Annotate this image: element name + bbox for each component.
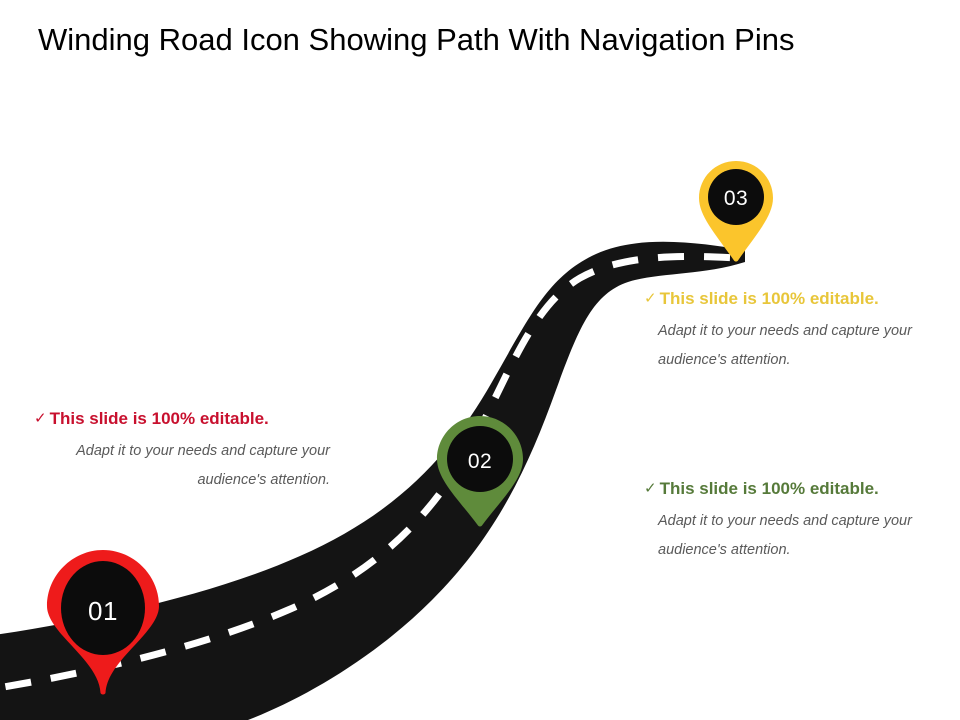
text-block-yellow-heading: ✓This slide is 100% editable. [644, 288, 944, 310]
text-block-green: ✓This slide is 100% editable. Adapt it t… [644, 478, 944, 565]
text-block-red-heading: ✓This slide is 100% editable. [34, 408, 330, 430]
text-block-yellow-body: Adapt it to your needs and capture your … [658, 317, 944, 375]
text-block-red-body-line2: audience's attention. [34, 466, 330, 495]
map-pin-icon [696, 159, 776, 263]
text-block-red-body: Adapt it to your needs and capture your … [34, 437, 330, 495]
text-block-yellow-body-line1: Adapt it to your needs and capture your [658, 317, 944, 346]
text-block-red: ✓This slide is 100% editable. Adapt it t… [34, 408, 330, 495]
text-block-green-body-line2: audience's attention. [658, 536, 944, 565]
map-pin-03[interactable]: 03 [696, 159, 776, 263]
map-pin-icon [44, 548, 162, 696]
slide-canvas: Winding Road Icon Showing Path With Navi… [0, 0, 960, 720]
map-pin-01[interactable]: 01 [44, 548, 162, 696]
text-block-green-body: Adapt it to your needs and capture your … [658, 507, 944, 565]
text-block-red-body-line1: Adapt it to your needs and capture your [34, 437, 330, 466]
text-block-green-body-line1: Adapt it to your needs and capture your [658, 507, 944, 536]
text-block-yellow-heading-text: This slide is 100% editable. [660, 289, 879, 308]
map-pin-02[interactable]: 02 [434, 414, 526, 528]
map-pin-icon [434, 414, 526, 528]
check-icon: ✓ [644, 478, 657, 500]
check-icon: ✓ [34, 408, 47, 430]
text-block-green-heading: ✓This slide is 100% editable. [644, 478, 944, 500]
text-block-red-heading-text: This slide is 100% editable. [50, 409, 269, 428]
text-block-green-heading-text: This slide is 100% editable. [660, 479, 879, 498]
text-block-yellow: ✓This slide is 100% editable. Adapt it t… [644, 288, 944, 375]
check-icon: ✓ [644, 288, 657, 310]
text-block-yellow-body-line2: audience's attention. [658, 346, 944, 375]
